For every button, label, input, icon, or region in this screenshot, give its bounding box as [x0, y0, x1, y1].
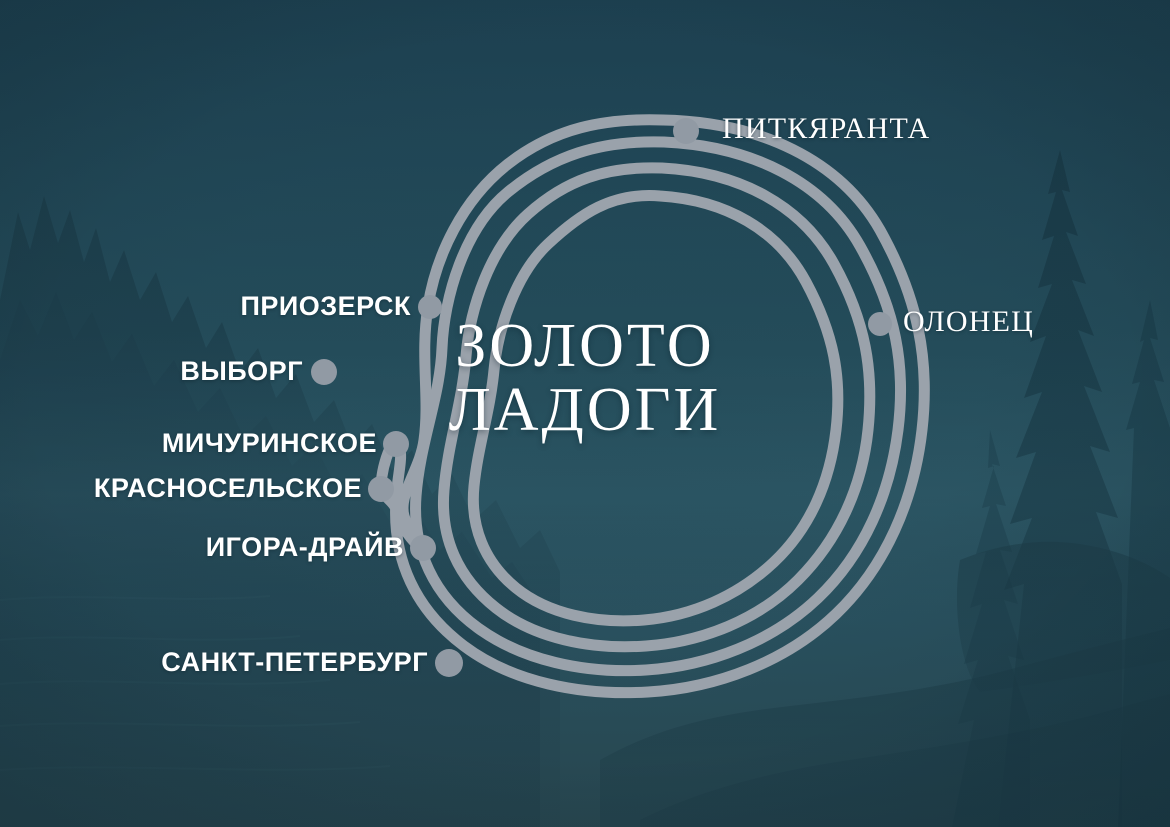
stop-label-priozersk[interactable]: ПРИОЗЕРСК	[0, 291, 411, 322]
stop-label-krasnoselskoe[interactable]: КРАСНОСЕЛЬСКОЕ	[0, 473, 362, 504]
stop-dot-sankt-peterburg[interactable]	[435, 649, 463, 677]
stop-dot-pitkyaranta[interactable]	[673, 118, 699, 144]
stop-dot-krasnoselskoe[interactable]	[368, 476, 394, 502]
poster-root: ЗОЛОТО ЛАДОГИ ПИТКЯРАНТАОЛОНЕЦПРИОЗЕРСКВ…	[0, 0, 1170, 827]
stop-label-pitkyaranta[interactable]: ПИТКЯРАНТА	[722, 112, 930, 146]
stop-label-sankt-peterburg[interactable]: САНКТ-ПЕТЕРБУРГ	[0, 647, 428, 678]
stop-label-michurinskoe[interactable]: МИЧУРИНСКОЕ	[0, 428, 377, 459]
stop-label-vyborg[interactable]: ВЫБОРГ	[0, 356, 303, 387]
stop-dot-igora-drive[interactable]	[410, 535, 436, 561]
stop-label-igora-drive[interactable]: ИГОРА-ДРАЙВ	[0, 532, 404, 563]
stop-label-olonets[interactable]: ОЛОНЕЦ	[903, 305, 1034, 339]
